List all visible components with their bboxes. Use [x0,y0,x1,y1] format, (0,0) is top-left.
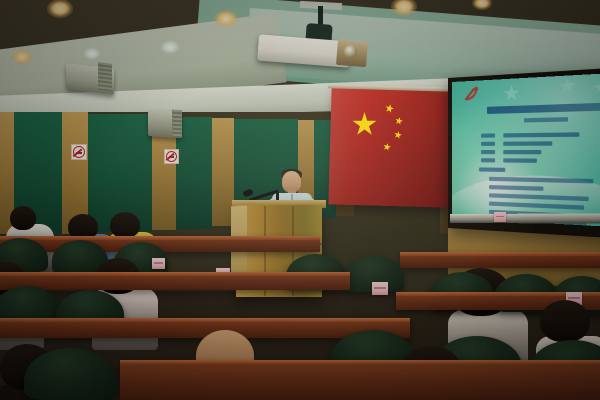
person-white-shirt-left-head [10,206,36,230]
desk-row-foreground-edge [120,360,600,364]
party-emblem-icon [462,84,483,103]
slide-label-line-3 [503,141,552,145]
slide-title-text [487,103,600,114]
seat-back-13 [24,348,116,400]
wall-speaker-left-grille-icon [98,62,112,92]
slide-label-line-5 [503,150,541,154]
no-smoking-sign-mid [164,149,179,164]
slide-label-line-7 [503,158,537,162]
name-card-1 [152,258,165,269]
desk-row-mid-edge [0,272,350,276]
conference-hall-photo [0,0,600,400]
desk-row-foreground [120,360,600,400]
wall-speaker-mid-grille-icon [172,110,182,138]
cigarette-icon [169,156,175,158]
slide-star-0 [503,85,520,103]
slide-star-2 [593,80,600,94]
name-card-3 [372,282,388,295]
projection-screen-bottom-bar [450,213,600,223]
name-card-4 [494,212,506,222]
desk-row-right-back-edge [400,252,600,256]
person-right-far-head [540,300,590,342]
downlight-3 [83,47,101,60]
desk-row-back-edge [0,236,320,240]
no-smoking-sign-left [71,144,87,160]
slide-subtitle-text [524,117,568,122]
desk-row-front-edge [0,318,410,322]
slide-label-line-0 [481,133,495,137]
cigarette-icon [76,152,82,154]
no-smoking-icon [166,151,177,162]
slide-label-line-1 [503,132,579,137]
slide-label-line-6 [481,158,495,162]
person-yellow-top-head [110,212,140,238]
slide-star-1 [559,77,576,94]
slide-label-line-8 [479,167,505,172]
projection-screen [452,73,600,227]
slide-label-line-4 [481,150,495,154]
no-smoking-icon [73,146,85,158]
slide-label-line-2 [481,142,495,146]
downlight-1 [47,0,73,18]
